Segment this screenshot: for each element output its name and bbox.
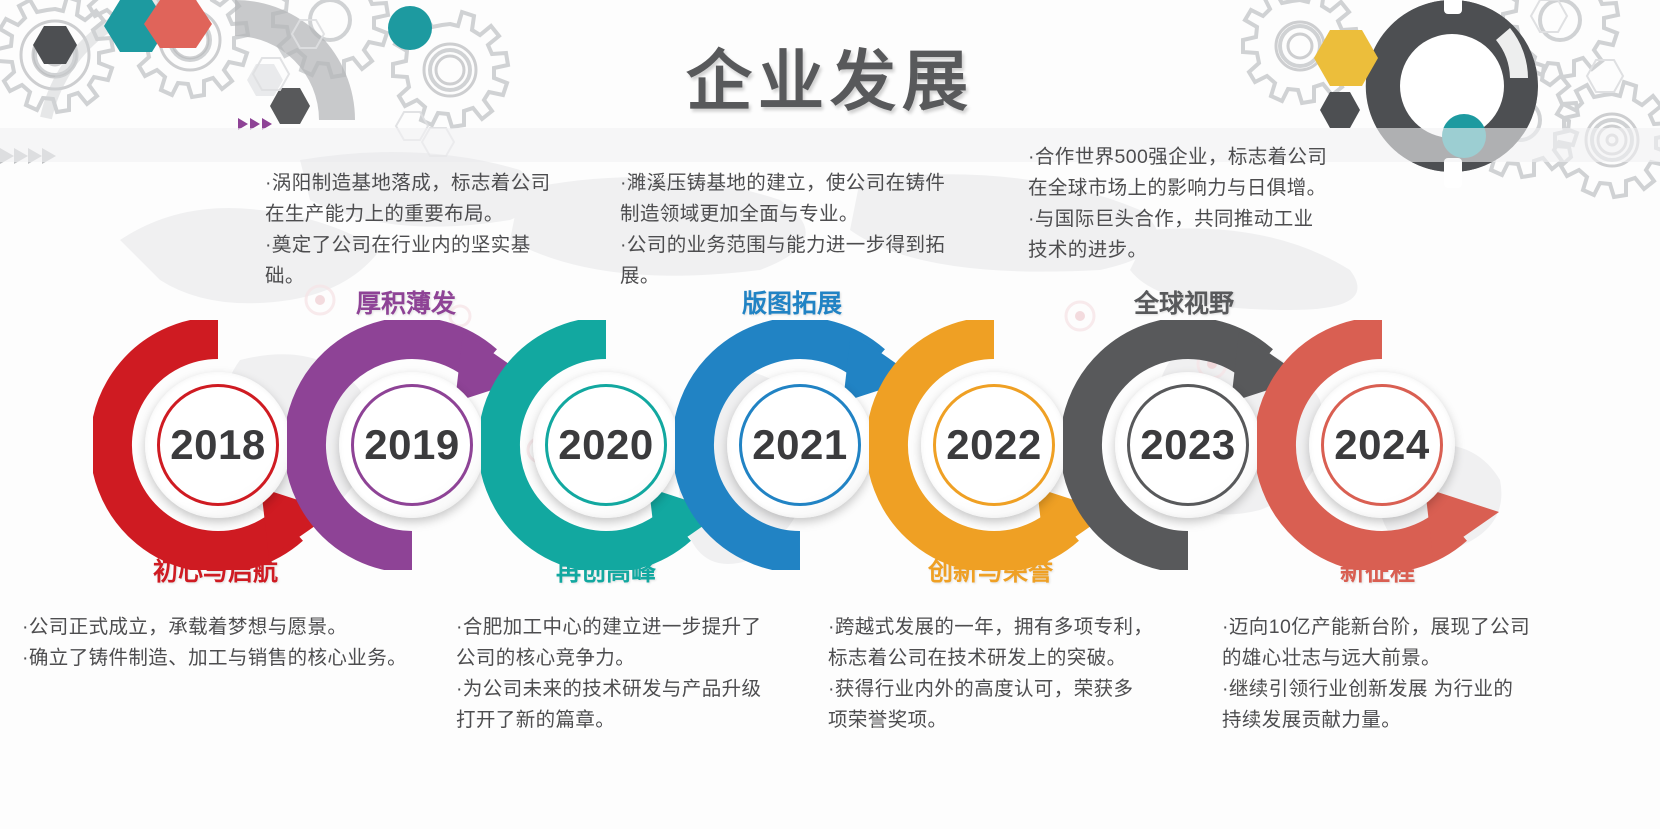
year-ring-2023: 2023 [1127, 384, 1249, 506]
year-ring-2024: 2024 [1321, 384, 1443, 506]
tag-2021: 版图拓展 [742, 284, 842, 320]
note-2024: ·迈向10亿产能新台阶，展现了公司 的雄心壮志与远大前景。 ·继续引领行业创新发… [1222, 612, 1562, 736]
slide-canvas: 企业发展 ·涡阳制造基地落成，标志着公司 在生产能力上的重要布局。 ·奠定了公司… [0, 0, 1660, 829]
timeline-rings: 2018 2019 2020 [0, 320, 1660, 570]
note-2020: ·合肥加工中心的建立进一步提升了 公司的核心竞争力。 ·为公司未来的技术研发与产… [456, 612, 786, 736]
year-label-2022: 2022 [946, 421, 1041, 469]
year-label-2020: 2020 [558, 421, 653, 469]
note-2018: ·公司正式成立，承载着梦想与愿景。 ·确立了铸件制造、加工与销售的核心业务。 [22, 612, 442, 674]
note-2023: ·合作世界500强企业，标志着公司 在全球市场上的影响力与日俱增。 ·与国际巨头… [1028, 142, 1348, 266]
year-label-2019: 2019 [364, 421, 459, 469]
year-label-2024: 2024 [1334, 421, 1429, 469]
year-ring-2020: 2020 [545, 384, 667, 506]
year-ring-2022: 2022 [933, 384, 1055, 506]
note-2022: ·跨越式发展的一年，拥有多项专利， 标志着公司在技术研发上的突破。 ·获得行业内… [828, 612, 1188, 736]
tag-2019: 厚积薄发 [356, 284, 456, 320]
year-ring-2021: 2021 [739, 384, 861, 506]
year-ring-2019: 2019 [351, 384, 473, 506]
timeline-node-2024[interactable]: 2024 [1257, 320, 1507, 570]
page-title: 企业发展 [0, 28, 1660, 124]
note-2021: ·濉溪压铸基地的建立，使公司在铸件 制造领域更加全面与专业。 ·公司的业务范围与… [620, 168, 980, 292]
tag-2023: 全球视野 [1134, 284, 1234, 320]
year-label-2023: 2023 [1140, 421, 1235, 469]
year-label-2018: 2018 [170, 421, 265, 469]
note-2019: ·涡阳制造基地落成，标志着公司 在生产能力上的重要布局。 ·奠定了公司在行业内的… [265, 168, 565, 292]
year-ring-2018: 2018 [157, 384, 279, 506]
year-label-2021: 2021 [752, 421, 847, 469]
